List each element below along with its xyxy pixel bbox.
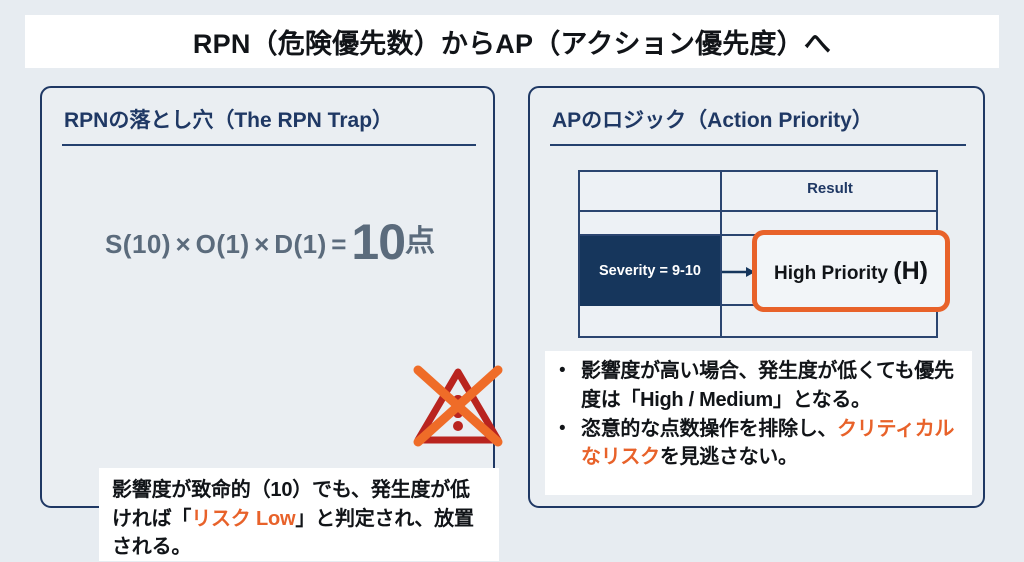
- matrix-severity-cell: Severity = 9-10: [580, 236, 720, 306]
- bullet-2-part-2: を見逃さない。: [660, 446, 798, 468]
- matrix-severity-label: Severity = 9-10: [599, 263, 701, 279]
- panel-ap-logic-header: APのロジック（Action Priority）: [552, 104, 873, 134]
- panel-rpn-trap-divider: [62, 144, 476, 146]
- caption-highlight: リスク Low: [191, 508, 295, 530]
- rpn-trap-caption-box: 影響度が致命的（10）でも、発生度が低ければ「リスク Low」と判定され、放置さ…: [99, 468, 499, 561]
- bullet-marker: •: [555, 357, 581, 386]
- rpn-trap-caption-text: 影響度が致命的（10）でも、発生度が低ければ「リスク Low」と判定され、放置さ…: [112, 476, 487, 562]
- matrix-result-chip: High Priority (H): [752, 230, 950, 312]
- panel-rpn-trap: RPNの落とし穴（The RPN Trap） S(10) × O(1) × D(…: [40, 86, 495, 508]
- matrix-result-chip-text: High Priority (H): [774, 257, 928, 286]
- formula-times-2: ×: [254, 229, 270, 259]
- formula-detection: D(1): [274, 229, 327, 259]
- panel-ap-logic-divider: [550, 144, 966, 146]
- slide-title-bar: RPN（危険優先数）からAP（アクション優先度）へ: [25, 15, 999, 68]
- bullet-text-1: 影響度が高い場合、発生度が低くても優先度は「High / Medium」となる。: [581, 357, 966, 415]
- right-arrow-icon: [722, 265, 756, 277]
- formula-result-value: 10: [351, 214, 405, 270]
- page-title: RPN（危険優先数）からAP（アクション優先度）へ: [193, 22, 831, 61]
- rpn-formula: S(10) × O(1) × D(1) = 10点: [60, 216, 480, 267]
- ap-logic-bullet-box: • 影響度が高い場合、発生度が低くても優先度は「High / Medium」とな…: [545, 351, 972, 495]
- bullet-marker: •: [555, 415, 581, 444]
- formula-occurrence: O(1): [196, 229, 250, 259]
- action-priority-matrix: Result Severity = 9-10 High Priority (H): [578, 170, 938, 338]
- matrix-header-result: Result: [722, 180, 938, 197]
- crossed-out-warning-triangle-icon: [410, 362, 506, 452]
- result-chip-code: (H): [893, 257, 928, 285]
- formula-result-unit: 点: [405, 225, 435, 258]
- formula-times-1: ×: [176, 229, 192, 259]
- list-item: • 影響度が高い場合、発生度が低くても優先度は「High / Medium」とな…: [555, 357, 966, 415]
- result-chip-label: High Priority: [774, 263, 888, 284]
- matrix-row-divider-1: [580, 210, 936, 212]
- formula-severity: S(10): [105, 229, 171, 259]
- bullet-text-2: 恣意的な点数操作を排除し、クリティカルなリスクを見逃さない。: [581, 415, 966, 473]
- panel-rpn-trap-header: RPNの落とし穴（The RPN Trap）: [64, 104, 393, 134]
- bullet-2-part-1: 恣意的な点数操作を排除し、: [581, 418, 837, 440]
- list-item: • 恣意的な点数操作を排除し、クリティカルなリスクを見逃さない。: [555, 415, 966, 473]
- formula-equals: =: [331, 229, 347, 259]
- bullet-1-part-1: 影響度が高い場合、発生度が低くても優先度は「High / Medium」となる。: [581, 360, 954, 411]
- panel-ap-logic: APのロジック（Action Priority） Result Severity…: [528, 86, 985, 508]
